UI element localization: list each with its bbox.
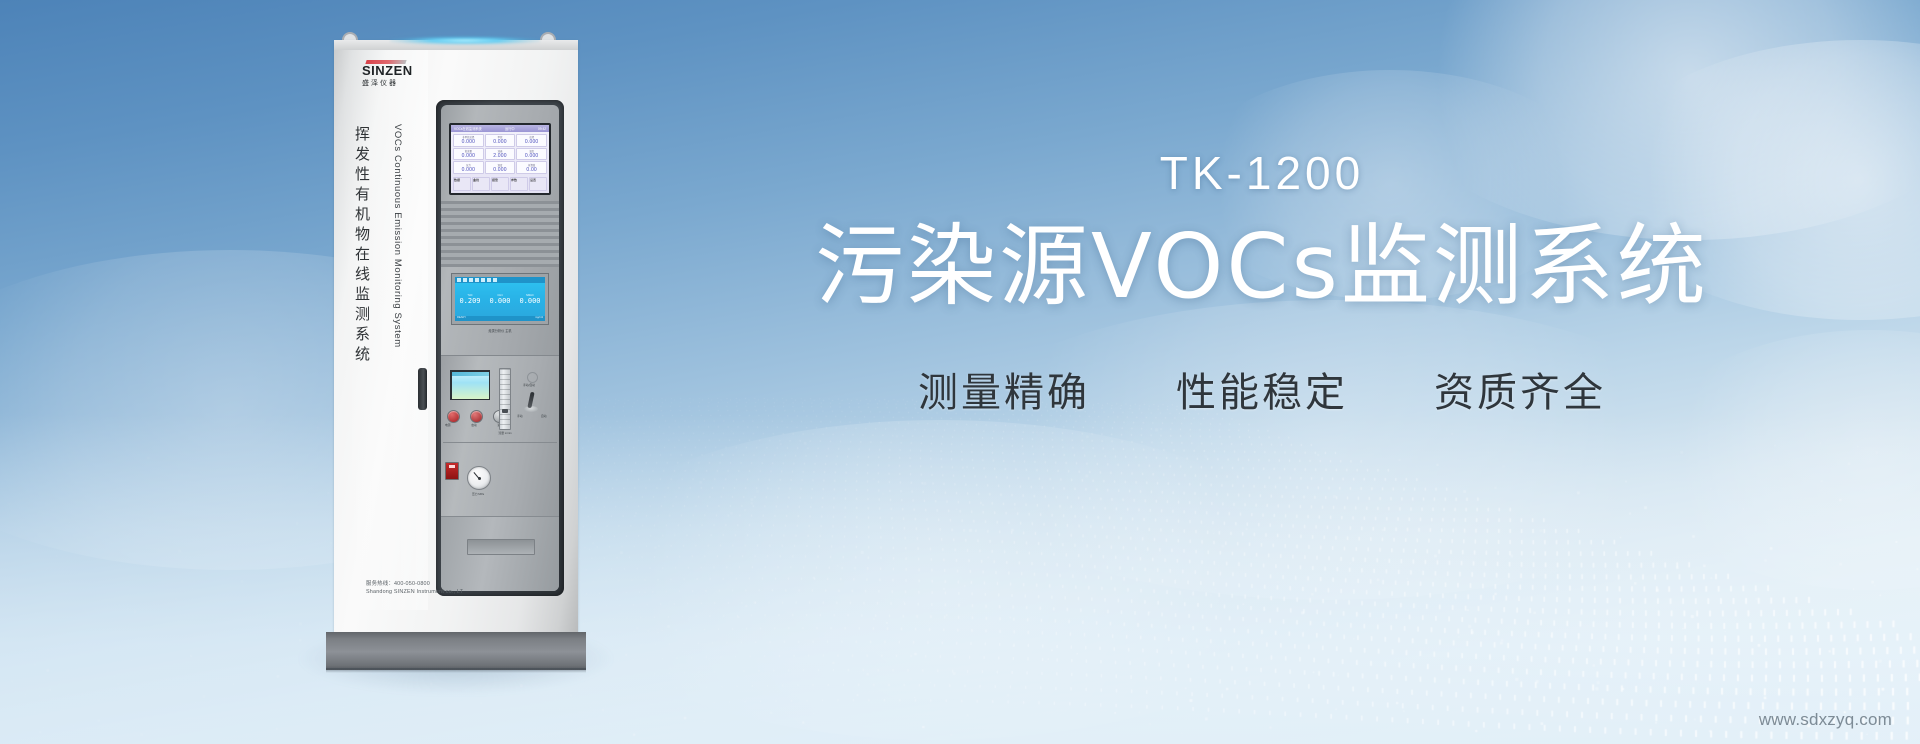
brand-logo: SINZEN 盛泽仪器 xyxy=(362,60,432,88)
hmi-button-bar: 数据曲线报警参数设置 xyxy=(451,176,549,193)
hmi-button[interactable]: 报警 xyxy=(491,177,509,191)
toggle-top-label: 手动/自动 xyxy=(523,383,535,387)
hero-feature-item-2: 性能稳定 xyxy=(1176,360,1348,418)
hmi-reading-cell: 甲烷0.000 xyxy=(485,134,516,147)
lcd-icon xyxy=(493,278,497,282)
brand-subtitle: 盛泽仪器 xyxy=(362,78,432,88)
cabinet-base-plinth xyxy=(326,632,586,670)
flowmeter-float xyxy=(502,409,508,413)
hmi-reading-value: 0.000 xyxy=(525,139,539,145)
hero-feature-list: 测量精确性能稳定资质齐全 xyxy=(672,360,1852,418)
hmi-reading-cell: 湿度0.000 xyxy=(485,161,516,174)
brand-name: SINZEN xyxy=(362,64,432,78)
hmi-button[interactable]: 数据 xyxy=(453,177,471,191)
toggle-right-label: 自动 xyxy=(541,414,547,418)
estop-glyph xyxy=(449,465,455,468)
hmi-reading-value: 0.000 xyxy=(462,167,476,173)
start-button-label: 启动 xyxy=(471,423,477,427)
hmi-reading-cell: 流速2.000 xyxy=(485,148,516,161)
flowmeter-label: 流量 L/min xyxy=(495,431,515,435)
hero-model-line: TK-1200 xyxy=(672,150,1852,196)
lcd-icon xyxy=(475,278,479,282)
hmi-reading-cell: 折算值0.00 xyxy=(516,161,547,174)
hero-feature-item-3: 资质齐全 xyxy=(1434,360,1606,418)
hmi-time: 09:42 xyxy=(538,127,546,131)
hmi-reading-value: 0.000 xyxy=(493,167,507,173)
cabinet-footer-text: 服务热线：400-050-0800 Shandong SINZEN Instru… xyxy=(366,580,463,597)
lcd-channel: THC0.209 xyxy=(459,294,480,305)
hmi-button[interactable]: 曲线 xyxy=(472,177,490,191)
hmi-reading-value: 0.00 xyxy=(526,167,537,173)
door-handle xyxy=(418,368,427,410)
panel-button-row xyxy=(447,410,506,423)
toggle-left-label: 手动 xyxy=(517,414,523,418)
start-button[interactable] xyxy=(470,410,483,423)
power-button[interactable] xyxy=(447,410,460,423)
service-hotline: 服务热线：400-050-0800 xyxy=(366,580,463,588)
hmi-reading-value: 0.000 xyxy=(462,139,476,145)
bottom-haze xyxy=(0,414,1920,744)
hmi-button[interactable]: 参数 xyxy=(510,177,528,191)
cabinet-vertical-english-label: VOCs Continuous Emission Monitoring Syst… xyxy=(392,124,403,348)
hmi-title: VOCs在线监测系统 xyxy=(454,126,482,131)
lcd-channel: NMHC0.000 xyxy=(519,294,540,305)
hmi-title-bar: VOCs在线监测系统 运行中 09:42 xyxy=(451,125,549,132)
analyzer-lcd-bezel: THC0.209CH40.000NMHC0.000 READY mg/m3 xyxy=(451,273,549,325)
lcd-icon xyxy=(487,278,491,282)
emergency-stop-button[interactable] xyxy=(445,462,459,480)
pressure-gauge-label: 压力 MPa xyxy=(463,492,493,496)
cloud-decoration xyxy=(560,420,1320,740)
product-banner: SINZEN 盛泽仪器 TK-1200 挥发性有机物在线监测系统 VOCs Co… xyxy=(0,0,1920,744)
hmi-status: 运行中 xyxy=(505,126,515,131)
lcd-icon xyxy=(463,278,467,282)
hmi-reading-value: 2.000 xyxy=(493,153,507,159)
lcd-icon xyxy=(481,278,485,282)
cabinet-door: VOCs在线监测系统 运行中 09:42 非甲烷总烃0.000甲烷0.000总烃… xyxy=(436,100,564,596)
flowmeter-ticks xyxy=(500,369,510,429)
hmi-reading-value: 0.000 xyxy=(525,153,539,159)
toggle-indicator-ring xyxy=(527,372,538,383)
hmi-reading-grid: 非甲烷总烃0.000甲烷0.000总烃0.000氧含量0.000流速2.000温… xyxy=(451,132,549,176)
mini-display-titlebar xyxy=(452,372,489,376)
hmi-reading-cell: 总烃0.000 xyxy=(516,134,547,147)
analyzer-lcd-screen: THC0.209CH40.000NMHC0.000 READY mg/m3 xyxy=(455,277,545,321)
lcd-channel-value: 0.000 xyxy=(519,297,540,305)
particle-wave-decoration xyxy=(0,384,1920,744)
power-button-label: 电源 xyxy=(445,423,451,427)
analyzer-caption: 烃类分析仪 主机 xyxy=(467,329,533,333)
company-name-en: Shandong SINZEN Instrument co., LT xyxy=(366,588,463,596)
cabinet-top-highlight xyxy=(390,36,540,45)
door-inner-panel: VOCs在线监测系统 运行中 09:42 非甲烷总烃0.000甲烷0.000总烃… xyxy=(441,105,559,591)
cabinet-base-shadow xyxy=(326,668,586,673)
lcd-status-bar: READY mg/m3 xyxy=(455,316,545,321)
mini-display xyxy=(450,370,490,400)
hero-feature-item-1: 测量精确 xyxy=(918,360,1090,418)
lcd-icon xyxy=(457,278,461,282)
panel-divider xyxy=(443,442,557,443)
lcd-channel-value: 0.209 xyxy=(459,297,480,305)
lcd-status-right: mg/m3 xyxy=(535,316,543,321)
lcd-channel-value: 0.000 xyxy=(489,297,510,305)
pressure-gauge xyxy=(467,466,491,490)
control-panel: 电源启动复位 流量 L/min 手动/自动 手动 自动 xyxy=(441,355,559,591)
hmi-reading-value: 0.000 xyxy=(462,153,476,159)
mini-display-screen xyxy=(452,372,489,399)
hmi-reading-cell: 氧含量0.000 xyxy=(453,148,484,161)
site-watermark: www.sdxzyq.com xyxy=(1759,710,1892,730)
ventilation-slats xyxy=(441,201,559,267)
hero-headline: 污染源VOCs监测系统 xyxy=(672,218,1852,314)
lcd-channel-readouts: THC0.209CH40.000NMHC0.000 xyxy=(455,283,545,316)
brand-accent-bar xyxy=(365,60,406,64)
hmi-reading-cell: 非甲烷总烃0.000 xyxy=(453,134,484,147)
hmi-screen-content: VOCs在线监测系统 运行中 09:42 非甲烷总烃0.000甲烷0.000总烃… xyxy=(451,125,549,193)
lcd-icon xyxy=(469,278,473,282)
panel-button-labels: 电源启动复位 xyxy=(445,423,503,427)
flowmeter xyxy=(499,368,511,430)
hmi-reading-value: 0.000 xyxy=(493,139,507,145)
lcd-status-left: READY xyxy=(457,316,466,321)
lower-panel-slot xyxy=(467,539,535,555)
gauge-hub xyxy=(478,477,481,480)
hmi-touch-screen: VOCs在线监测系统 运行中 09:42 非甲烷总烃0.000甲烷0.000总烃… xyxy=(449,123,551,195)
hmi-reading-cell: 压力0.000 xyxy=(453,161,484,174)
hmi-button[interactable]: 设置 xyxy=(529,177,547,191)
hero-copy-block: TK-1200 污染源VOCs监测系统 测量精确性能稳定资质齐全 xyxy=(672,150,1852,418)
hmi-reading-cell: 温度0.000 xyxy=(516,148,547,161)
lcd-channel: CH40.000 xyxy=(489,294,510,305)
cabinet-vertical-chinese-label: 挥发性有机物在线监测系统 xyxy=(352,126,373,366)
product-cabinet-image: SINZEN 盛泽仪器 TK-1200 挥发性有机物在线监测系统 VOCs Co… xyxy=(326,28,586,700)
